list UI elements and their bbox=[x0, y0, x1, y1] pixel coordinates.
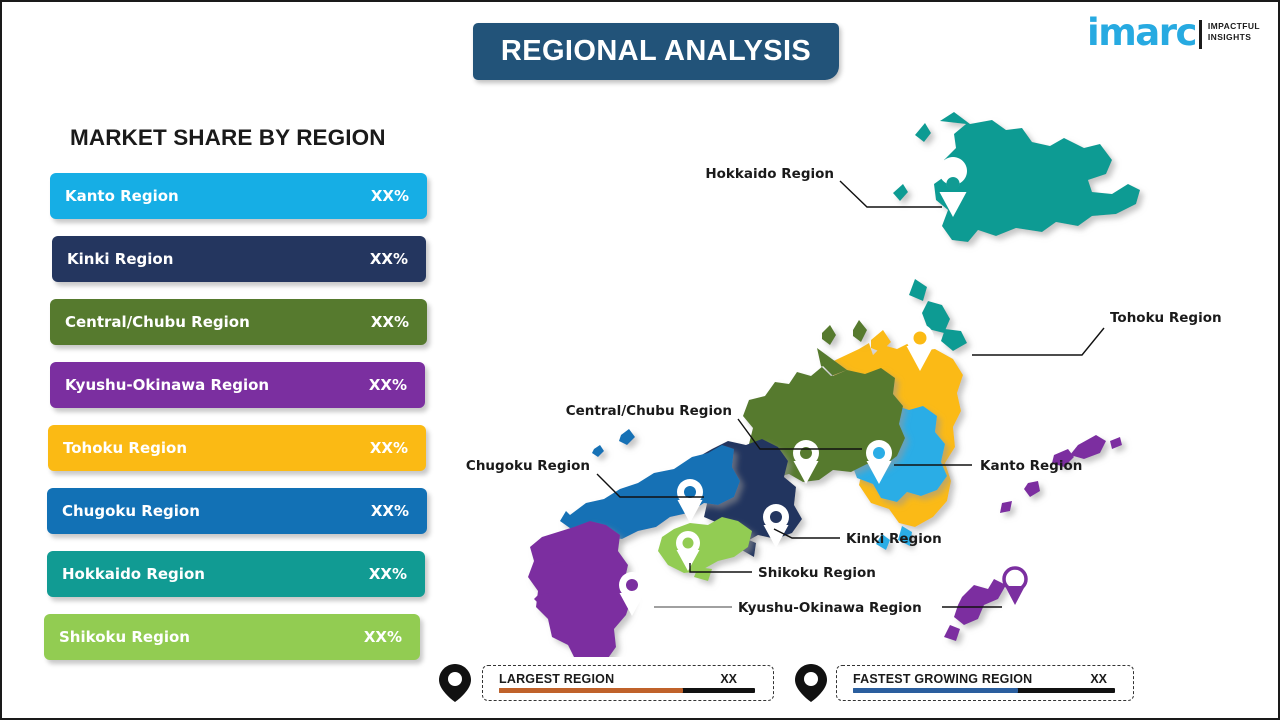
map-label-chubu: Central/Chubu Region bbox=[566, 403, 732, 419]
region-share-value: XX% bbox=[364, 628, 402, 646]
map-region-hokkaido[interactable] bbox=[893, 112, 1140, 351]
japan-regional-map: Hokkaido Region Tohoku Region Central/Ch… bbox=[442, 97, 1262, 657]
logo-wordmark: imarc bbox=[1087, 16, 1196, 50]
region-share-row: Kanto RegionXX% bbox=[2, 173, 442, 236]
region-share-row: Chugoku RegionXX% bbox=[2, 488, 442, 551]
region-share-value: XX% bbox=[369, 565, 407, 583]
region-share-value: XX% bbox=[369, 376, 407, 394]
map-label-chugoku: Chugoku Region bbox=[466, 458, 590, 474]
page-title-banner: REGIONAL ANALYSIS bbox=[473, 23, 839, 80]
region-name: Chugoku Region bbox=[62, 502, 200, 520]
map-label-kanto: Kanto Region bbox=[980, 458, 1082, 474]
largest-region-box: LARGEST REGION XX bbox=[482, 665, 774, 701]
region-share-row: Kinki RegionXX% bbox=[2, 236, 442, 299]
map-svg: Hokkaido Region Tohoku Region Central/Ch… bbox=[442, 97, 1262, 657]
region-share-bar[interactable]: Kinki RegionXX% bbox=[52, 236, 426, 282]
map-label-hokkaido: Hokkaido Region bbox=[705, 166, 834, 182]
region-share-row: Shikoku RegionXX% bbox=[2, 614, 442, 677]
map-label-kyushu-okinawa: Kyushu-Okinawa Region bbox=[738, 600, 922, 616]
map-label-kinki: Kinki Region bbox=[846, 531, 942, 547]
region-share-row: Central/Chubu RegionXX% bbox=[2, 299, 442, 362]
logo-tagline-line1: IMPACTFUL bbox=[1208, 21, 1260, 32]
map-pin-kinki-icon[interactable] bbox=[763, 504, 789, 548]
fastest-region-track bbox=[853, 688, 1115, 693]
region-share-row: Hokkaido RegionXX% bbox=[2, 551, 442, 614]
map-pin-okinawa-icon[interactable] bbox=[1004, 568, 1026, 605]
page-title: REGIONAL ANALYSIS bbox=[501, 35, 811, 68]
map-pin-icon bbox=[438, 663, 472, 703]
fastest-region-value: XX bbox=[1090, 672, 1107, 686]
market-share-heading: MARKET SHARE BY REGION bbox=[70, 125, 386, 151]
region-share-bar[interactable]: Shikoku RegionXX% bbox=[44, 614, 420, 660]
fastest-region-fill bbox=[853, 688, 1018, 693]
logo-tagline: IMPACTFUL INSIGHTS bbox=[1208, 16, 1260, 43]
largest-region-fill bbox=[499, 688, 683, 693]
map-label-tohoku: Tohoku Region bbox=[1110, 310, 1222, 326]
map-label-shikoku: Shikoku Region bbox=[758, 565, 876, 581]
region-share-bar[interactable]: Central/Chubu RegionXX% bbox=[50, 299, 427, 345]
region-share-list: Kanto RegionXX%Kinki RegionXX%Central/Ch… bbox=[2, 173, 442, 677]
largest-region-callout: LARGEST REGION XX bbox=[438, 663, 778, 703]
region-share-bar[interactable]: Chugoku RegionXX% bbox=[47, 488, 427, 534]
region-share-value: XX% bbox=[371, 502, 409, 520]
region-name: Kanto Region bbox=[65, 187, 179, 205]
region-name: Kyushu-Okinawa Region bbox=[65, 376, 269, 394]
fastest-region-box: FASTEST GROWING REGION XX bbox=[836, 665, 1134, 701]
fastest-region-label: FASTEST GROWING REGION bbox=[853, 672, 1032, 686]
map-pin-icon bbox=[794, 663, 828, 703]
logo-divider bbox=[1199, 20, 1202, 49]
logo-tagline-line2: INSIGHTS bbox=[1208, 32, 1260, 43]
region-share-bar[interactable]: Kanto RegionXX% bbox=[50, 173, 427, 219]
region-share-value: XX% bbox=[370, 250, 408, 268]
region-name: Tohoku Region bbox=[63, 439, 187, 457]
region-share-row: Tohoku RegionXX% bbox=[2, 425, 442, 488]
fastest-region-callout: FASTEST GROWING REGION XX bbox=[794, 663, 1140, 703]
region-share-value: XX% bbox=[370, 439, 408, 457]
region-share-row: Kyushu-Okinawa RegionXX% bbox=[2, 362, 442, 425]
slide-canvas: REGIONAL ANALYSIS imarc IMPACTFUL INSIGH… bbox=[0, 0, 1280, 720]
largest-region-value: XX bbox=[720, 672, 737, 686]
imarc-logo: imarc IMPACTFUL INSIGHTS bbox=[1087, 16, 1260, 50]
map-pin-chugoku-icon[interactable] bbox=[677, 479, 703, 523]
region-name: Kinki Region bbox=[67, 250, 173, 268]
largest-region-label: LARGEST REGION bbox=[499, 672, 614, 686]
region-share-bar[interactable]: Hokkaido RegionXX% bbox=[47, 551, 425, 597]
region-name: Hokkaido Region bbox=[62, 565, 205, 583]
region-name: Shikoku Region bbox=[59, 628, 190, 646]
largest-region-track bbox=[499, 688, 755, 693]
region-share-value: XX% bbox=[371, 187, 409, 205]
region-share-bar[interactable]: Kyushu-Okinawa RegionXX% bbox=[50, 362, 425, 408]
region-share-bar[interactable]: Tohoku RegionXX% bbox=[48, 425, 426, 471]
region-name: Central/Chubu Region bbox=[65, 313, 250, 331]
region-share-value: XX% bbox=[371, 313, 409, 331]
